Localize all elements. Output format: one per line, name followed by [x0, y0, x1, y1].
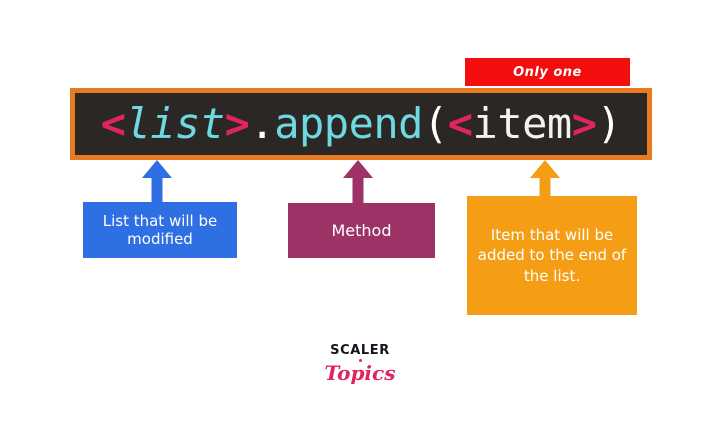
logo-scaler-text: SCALER	[0, 344, 720, 358]
code-token-bracket-open-item: <	[448, 99, 473, 148]
code-syntax-line: <list>.append(<item>)	[101, 103, 622, 145]
arrow-head	[343, 160, 373, 178]
logo-topics-text: Topics	[0, 362, 720, 384]
code-bar: <list>.append(<item>)	[70, 88, 652, 160]
diagram-canvas: Only one <list>.append(<item>) List that…	[0, 0, 720, 444]
callout-method-label: Method	[325, 221, 397, 240]
only-one-badge-label: Only one	[513, 66, 582, 79]
code-token-paren-open: (	[423, 99, 448, 148]
code-token-paren-close: )	[597, 99, 622, 148]
callout-list-label: List that will be modified	[83, 212, 237, 248]
scaler-topics-logo: SCALER Topics	[0, 344, 720, 384]
code-token-list-variable: list	[125, 99, 224, 148]
code-token-item-argument: item	[473, 99, 572, 148]
callout-method: Method	[288, 203, 435, 258]
callout-item: Item that will be added to the end of th…	[467, 196, 637, 315]
code-token-bracket-open-list: <	[101, 99, 126, 148]
callout-list: List that will be modified	[83, 202, 237, 258]
arrow-up-icon-method	[343, 160, 373, 208]
arrow-head	[530, 160, 560, 178]
code-token-append-method: append	[274, 99, 423, 148]
arrow-up-icon-list	[142, 160, 172, 208]
code-token-bracket-close-item: >	[572, 99, 597, 148]
only-one-badge: Only one	[465, 58, 630, 86]
arrow-head	[142, 160, 172, 178]
code-token-dot: .	[249, 99, 274, 148]
callout-item-label: Item that will be added to the end of th…	[467, 225, 637, 286]
code-token-bracket-close-list: >	[225, 99, 250, 148]
